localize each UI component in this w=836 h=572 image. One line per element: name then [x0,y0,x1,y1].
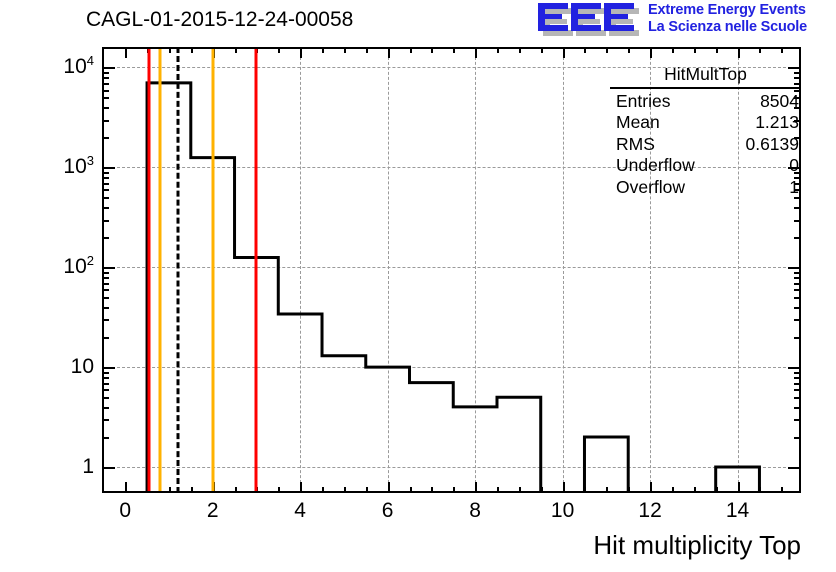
stats-box: HitMultTop Entries8504Mean1.213RMS0.6139… [610,64,801,199]
y-axis-tick-label: 1 [14,455,94,479]
stats-row-key: Underflow [616,155,695,177]
y-axis-tick-label: 103 [14,155,94,179]
eee-logo-line1: Extreme Energy Events [648,2,807,19]
stats-row-value: 0 [789,155,799,177]
eee-logo: Extreme Energy Events La Scienza nelle S… [536,2,834,38]
x-axis-tick-label: 4 [294,499,306,523]
x-axis-tick-label: 0 [119,499,131,523]
stats-box-row: Entries8504 [610,91,801,113]
stats-box-row: Overflow1 [610,177,801,199]
stats-box-row: RMS0.6139 [610,134,801,156]
eee-logo-line2: La Scienza nelle Scuole [648,19,807,36]
stats-row-key: Entries [616,91,670,113]
root-canvas: CAGL-01-2015-12-24-00058 [0,0,836,572]
stats-row-key: Overflow [616,177,685,199]
stats-row-key: RMS [616,134,655,156]
x-axis-tick-label: 2 [207,499,219,523]
stats-row-key: Mean [616,112,660,134]
x-axis-tick-label: 6 [382,499,394,523]
y-axis-tick-label: 10 [14,355,94,379]
stats-row-value: 8504 [760,91,799,113]
page-title: CAGL-01-2015-12-24-00058 [86,8,353,32]
stats-box-rows: Entries8504Mean1.213RMS0.6139Underflow0O… [610,91,801,199]
x-axis-tick-label: 10 [551,499,574,523]
stats-box-divider [610,87,801,89]
stats-box-row: Mean1.213 [610,112,801,134]
stats-row-value: 1 [789,177,799,199]
x-axis-title: Hit multiplicity Top [593,530,801,561]
eee-logo-mark [536,2,642,36]
stats-row-value: 0.6139 [745,134,799,156]
eee-logo-text: Extreme Energy Events La Scienza nelle S… [648,2,807,36]
y-axis-tick-label: 102 [14,255,94,279]
x-axis-tick-label: 14 [726,499,749,523]
stats-box-title: HitMultTop [610,64,801,87]
x-axis-tick-label: 8 [469,499,481,523]
y-axis-tick-label: 104 [14,55,94,79]
stats-box-row: Underflow0 [610,155,801,177]
x-axis-tick-label: 12 [638,499,661,523]
stats-row-value: 1.213 [755,112,799,134]
